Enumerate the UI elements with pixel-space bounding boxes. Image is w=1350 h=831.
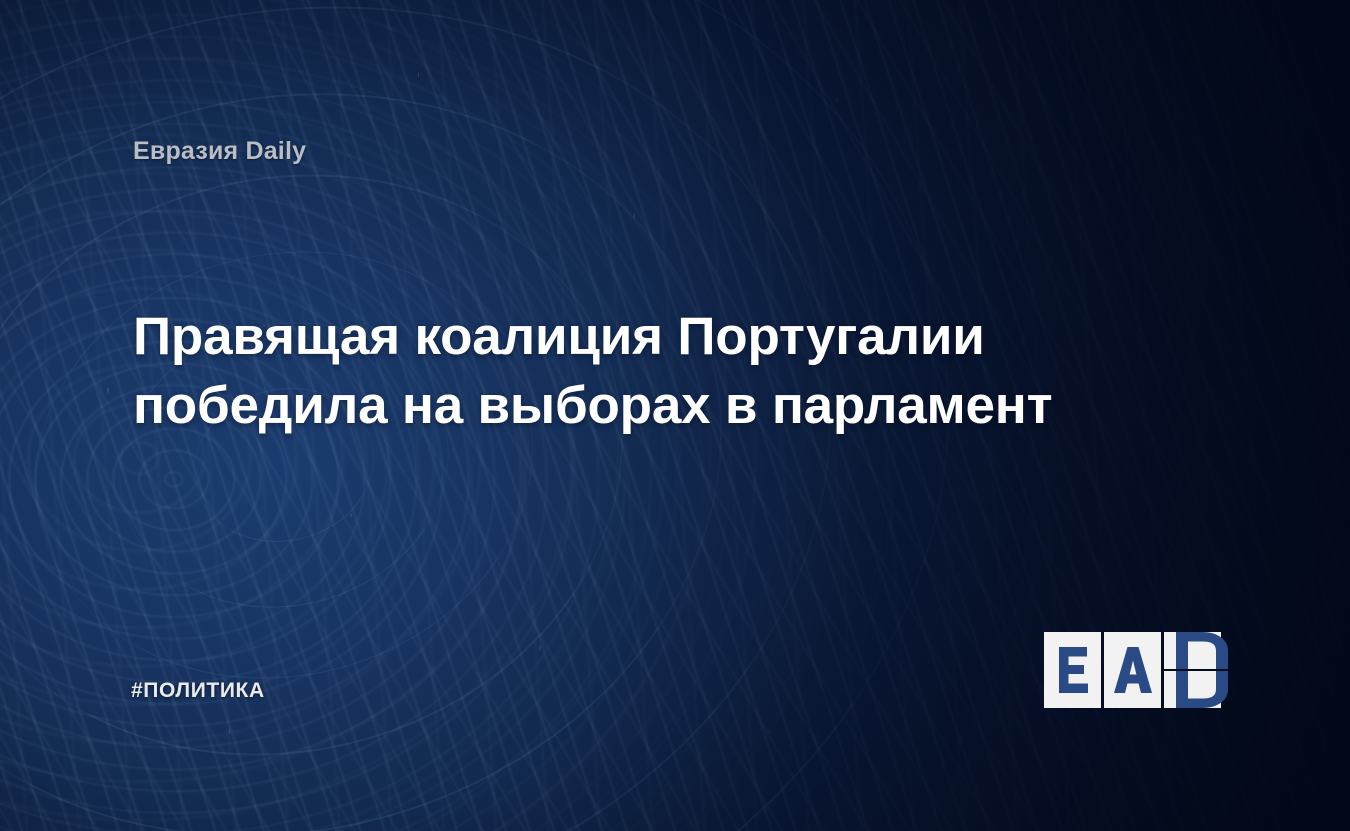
logo-tile-d xyxy=(1164,632,1221,708)
eadaily-logo[interactable] xyxy=(1044,632,1222,708)
logo-tile-a xyxy=(1104,632,1161,708)
logo-letter-e-icon xyxy=(1057,647,1089,693)
logo-letter-d-lower-icon xyxy=(1164,671,1221,708)
logo-letter-d-upper-icon xyxy=(1164,632,1221,669)
page-title: Правящая коалиция Португалии победила на… xyxy=(133,302,1133,442)
news-card: Евразия Daily Правящая коалиция Португал… xyxy=(0,0,1350,831)
brand-label: Евразия Daily xyxy=(133,137,306,166)
category-tag: #ПОЛИТИКА xyxy=(131,679,265,703)
logo-letter-a-icon xyxy=(1114,647,1152,693)
logo-tile-e xyxy=(1044,632,1101,708)
